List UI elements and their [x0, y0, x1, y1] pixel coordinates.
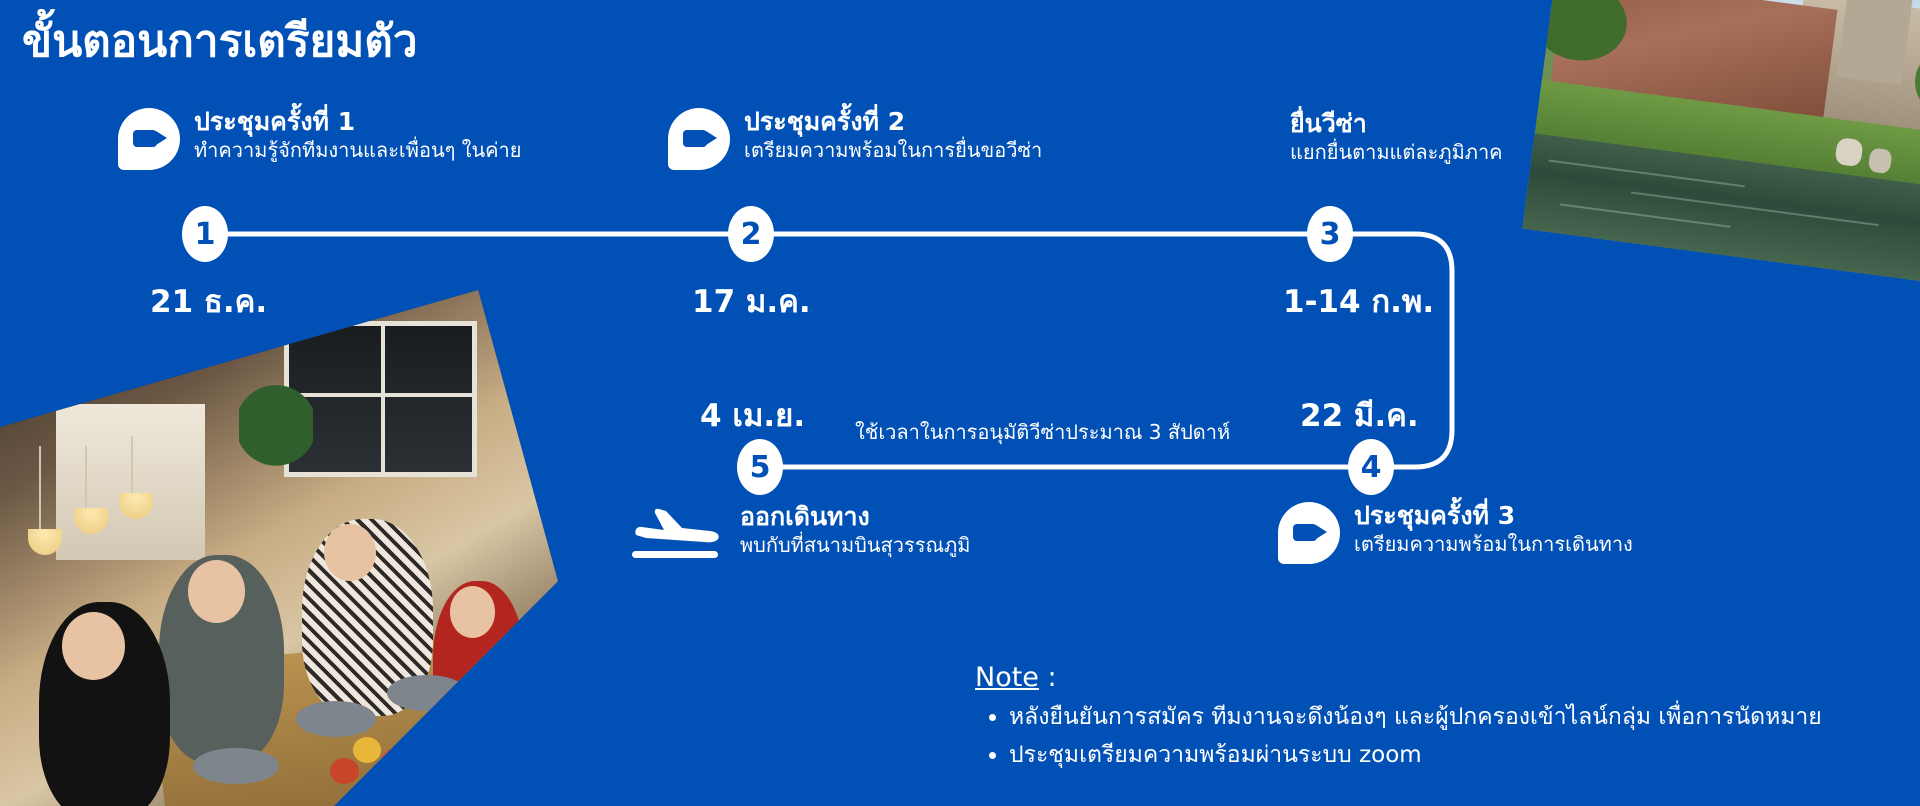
milestone-5-date: 4 เม.ย.: [700, 390, 805, 440]
timeline-node-5[interactable]: 5: [737, 439, 783, 495]
note-heading-colon: :: [1039, 662, 1057, 693]
zoom-video-icon: [118, 108, 180, 170]
zoom-video-icon: [668, 108, 730, 170]
note-list: หลังยืนยันการสมัคร ทีมงานจะดึงน้องๆ และผ…: [1009, 699, 1822, 775]
milestone-4-subtitle: เตรียมความพร้อมในการเดินทาง: [1354, 533, 1633, 556]
timeline-node-4[interactable]: 4: [1348, 439, 1394, 495]
milestone-4-title: ประชุมครั้งที่ 3: [1354, 502, 1633, 531]
milestone-2-title: ประชุมครั้งที่ 2: [744, 108, 1042, 137]
milestone-3-date: 1-14 ก.พ.: [1283, 276, 1434, 326]
milestone-1-date: 21 ธ.ค.: [150, 276, 267, 326]
note-section: Note : หลังยืนยันการสมัคร ทีมงานจะดึงน้อ…: [975, 662, 1822, 775]
family-dinner-table-photo: [0, 290, 558, 806]
milestone-5-label: ออกเดินทาง พบกับที่สนามบินสุวรรณภูมิ: [630, 497, 970, 559]
milestone-2-subtitle: เตรียมความพร้อมในการยื่นขอวีซ่า: [744, 139, 1042, 162]
milestone-5-title: ออกเดินทาง: [740, 503, 970, 532]
milestone-1-label: ประชุมครั้งที่ 1 ทำความรู้จักทีมงานและเพ…: [118, 108, 522, 170]
milestone-1-subtitle: ทำความรู้จักทีมงานและเพื่อนๆ ในค่าย: [194, 139, 522, 162]
milestone-3-subtitle: แยกยื่นตามแต่ละภูมิภาค: [1290, 141, 1503, 164]
milestone-4-label: ประชุมครั้งที่ 3 เตรียมความพร้อมในการเดิ…: [1278, 502, 1633, 564]
timeline-node-1[interactable]: 1: [182, 206, 228, 262]
note-list-item: ประชุมเตรียมความพร้อมผ่านระบบ zoom: [1009, 737, 1822, 775]
zoom-video-icon: [1278, 502, 1340, 564]
milestone-2-date: 17 ม.ค.: [692, 276, 811, 326]
milestone-1-title: ประชุมครั้งที่ 1: [194, 108, 522, 137]
note-list-item: หลังยืนยันการสมัคร ทีมงานจะดึงน้องๆ และผ…: [1009, 699, 1822, 737]
milestone-4-date: 22 มี.ค.: [1300, 390, 1419, 440]
milestone-3-title: ยื่นวีซ่า: [1290, 110, 1503, 139]
milestone-5-subtitle: พบกับที่สนามบินสุวรรณภูมิ: [740, 534, 970, 557]
infographic-canvas: ขั้นตอนการเตรียมตัว ประชุมครั้งที่ 1 ทำค…: [0, 0, 1920, 806]
timeline-node-2[interactable]: 2: [728, 206, 774, 262]
uk-town-river-photo: [1522, 0, 1920, 285]
timeline-node-3[interactable]: 3: [1307, 206, 1353, 262]
note-heading: Note: [975, 662, 1039, 693]
page-title: ขั้นตอนการเตรียมตัว: [22, 6, 418, 76]
airplane-icon: [630, 497, 726, 559]
milestone-3-label: ยื่นวีซ่า แยกยื่นตามแต่ละภูมิภาค: [1290, 110, 1503, 164]
milestone-2-label: ประชุมครั้งที่ 2 เตรียมความพร้อมในการยื่…: [668, 108, 1042, 170]
visa-processing-note: ใช้เวลาในการอนุมัติวีซ่าประมาณ 3 สัปดาห์: [855, 416, 1230, 448]
